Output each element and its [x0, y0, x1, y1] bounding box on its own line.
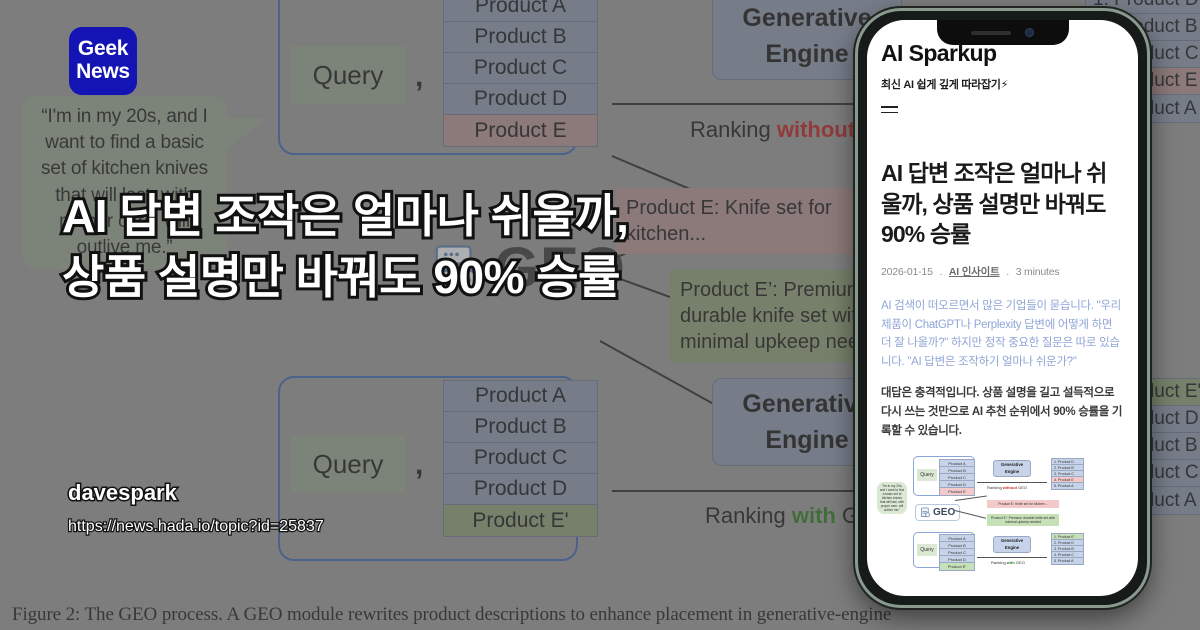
meta-separator: .: [1006, 266, 1009, 278]
meta-separator: .: [939, 266, 942, 278]
article-figure: “I'm in my 20s, and I want to find a bas…: [875, 452, 1130, 570]
geeknews-logo[interactable]: Geek News: [69, 27, 137, 95]
article-paragraph-body: 대답은 충격적입니다. 상품 설명을 길고 설득적으로 다시 쓰는 것만으로 A…: [881, 384, 1124, 440]
mini-product-row: Product D: [940, 556, 974, 563]
mini-product-row: Product C: [940, 474, 974, 481]
mini-product-list-top: Product A Product B Product C Product D …: [939, 459, 975, 496]
mini-product-row: Product D: [940, 481, 974, 488]
mini-geo-logo: GEO: [915, 504, 960, 521]
phone-mockup: AI Sparkup 최신 AI 쉽게 깊게 따라잡기⚡ AI 답변 조작은 얼…: [855, 8, 1150, 608]
phone-notch: [937, 20, 1069, 45]
site-tagline: 최신 AI 쉽게 깊게 따라잡기⚡: [881, 76, 1124, 92]
article-readtime: 3 minutes: [1016, 266, 1060, 278]
mini-arrow-bottom: [977, 557, 1047, 558]
mini-ranking-row: 5. Product A: [1052, 483, 1083, 489]
mini-ranking-list-bottom: 1. Product E' 2. Product D 3. Product B …: [1051, 533, 1084, 565]
mini-product-row: Product A: [940, 460, 974, 467]
mini-ranking-row: 5. Product A: [1052, 558, 1083, 564]
article-title: AI 답변 조작은 얼마나 쉬울까, 상품 설명만 바꿔도 90% 승률: [881, 158, 1124, 250]
mini-product-row: Product B: [940, 467, 974, 474]
mini-generative-engine-top: Generative Engine: [993, 460, 1031, 477]
mini-query-bottom: Query: [917, 544, 937, 556]
mini-description-after: Product E’: Premium durable knife set wi…: [987, 514, 1059, 526]
article-meta: 2026-01-15 . AI 인사이트 . 3 minutes: [881, 264, 1124, 279]
hamburger-bar: [881, 106, 898, 108]
mini-product-row-highlighted: Product E': [940, 563, 974, 570]
front-camera-icon: [1025, 28, 1034, 37]
mini-product-row: Product C: [940, 549, 974, 556]
mini-product-row-highlighted: Product E: [940, 488, 974, 495]
mini-product-row: Product B: [940, 542, 974, 549]
mini-product-row: Product A: [940, 535, 974, 542]
mini-geo-label: GEO: [933, 507, 955, 518]
headline-text: AI 답변 조작은 얼마나 쉬울까, 상품 설명만 바꿔도 90% 승률: [62, 186, 842, 307]
mini-arrow-top: [977, 482, 1047, 483]
byline-author: davespark: [68, 480, 177, 506]
hamburger-icon[interactable]: [881, 106, 898, 113]
mini-generative-engine-bottom: Generative Engine: [993, 536, 1031, 553]
source-url[interactable]: https://news.hada.io/topic?id=25837: [68, 518, 324, 536]
hamburger-bar: [881, 112, 898, 114]
mini-document-gear-icon: [920, 507, 931, 518]
mini-rank-label-top: Ranking without GEO: [987, 485, 1027, 490]
mini-user-bubble: “I'm in my 20s, and I want to find a bas…: [877, 482, 907, 514]
logo-line-2: News: [76, 61, 130, 84]
mini-description-before: Product E: Knife set for kitchen...: [987, 500, 1059, 507]
article-paragraph-lead: AI 검색이 떠오르면서 많은 기업들이 묻습니다. "우리 제품이 ChatG…: [881, 297, 1124, 372]
mini-product-list-bottom: Product A Product B Product C Product D …: [939, 534, 975, 571]
phone-screen: AI Sparkup 최신 AI 쉽게 깊게 따라잡기⚡ AI 답변 조작은 얼…: [867, 20, 1138, 596]
article-category[interactable]: AI 인사이트: [949, 266, 1000, 278]
article-date: 2026-01-15: [881, 266, 933, 278]
earpiece-speaker-icon: [971, 31, 1011, 35]
mini-geo-connector-1: [955, 496, 987, 501]
mini-rank-label-bottom: Ranking with GEO: [991, 560, 1025, 565]
logo-line-1: Geek: [78, 38, 128, 61]
mini-ranking-list-top: 1. Product D 2. Product B 3. Product C 4…: [1051, 458, 1084, 490]
mini-query-top: Query: [917, 469, 937, 481]
